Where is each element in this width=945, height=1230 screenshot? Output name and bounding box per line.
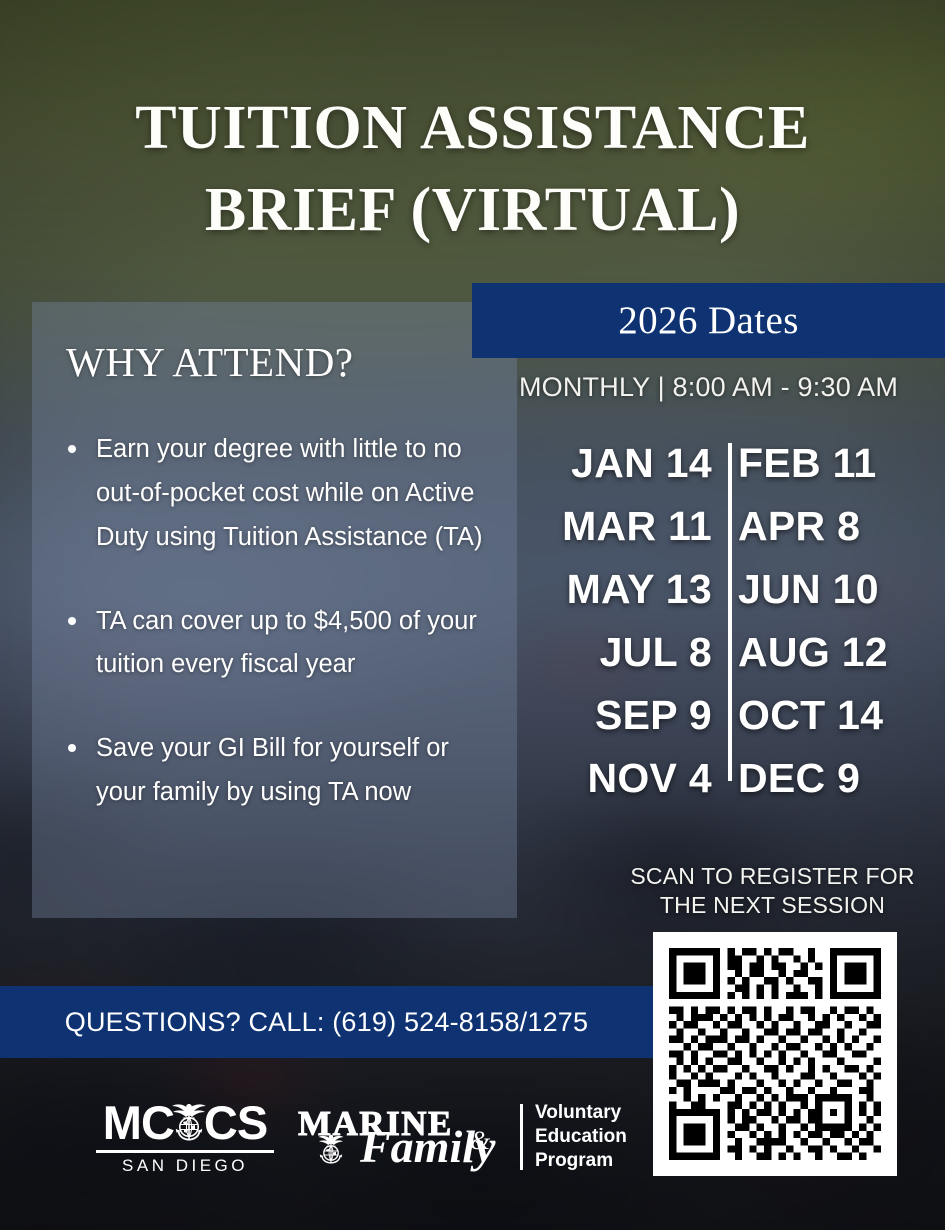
questions-phone-label: QUESTIONS? CALL: (619) 524-8158/1275 bbox=[65, 1007, 588, 1038]
table-row: MAY 13 JUN 10 bbox=[540, 566, 945, 629]
marine-family-logo: MARINE & Family bbox=[298, 1098, 627, 1176]
mccs-wordmark: MC bbox=[96, 1098, 274, 1146]
marine-family-wordmark: MARINE & Family bbox=[298, 1098, 520, 1176]
poster-root: TUITION ASSISTANCE BRIEF (VIRTUAL) WHY A… bbox=[0, 0, 945, 1230]
why-attend-panel: WHY ATTEND? Earn your degree with little… bbox=[32, 302, 517, 918]
table-row: MAR 11 APR 8 bbox=[540, 503, 945, 566]
mccs-divider-rule bbox=[96, 1150, 274, 1153]
scan-instruction-line-1: SCAN TO REGISTER FOR bbox=[600, 862, 945, 891]
page-title-line-1: TUITION ASSISTANCE bbox=[60, 88, 885, 170]
list-item: Save your GI Bill for yourself or your f… bbox=[66, 727, 487, 815]
scan-instruction: SCAN TO REGISTER FOR THE NEXT SESSION bbox=[600, 862, 945, 921]
date-cell: FEB 11 bbox=[716, 440, 945, 487]
date-cell: JUL 8 bbox=[540, 629, 716, 676]
family-word: Family bbox=[360, 1124, 495, 1170]
program-label: Voluntary Education Program bbox=[535, 1101, 627, 1173]
eagle-globe-anchor-icon bbox=[169, 1100, 209, 1144]
scan-instruction-line-2: THE NEXT SESSION bbox=[600, 891, 945, 920]
footer-logos: MC bbox=[0, 1082, 653, 1192]
table-row: SEP 9 OCT 14 bbox=[540, 692, 945, 755]
program-label-line-1: Voluntary bbox=[535, 1101, 627, 1125]
schedule-line: MONTHLY | 8:00 AM - 9:30 AM bbox=[472, 372, 945, 403]
why-attend-heading: WHY ATTEND? bbox=[66, 338, 487, 386]
date-grid-divider bbox=[728, 443, 732, 781]
date-cell: DEC 9 bbox=[716, 755, 945, 802]
page-title: TUITION ASSISTANCE BRIEF (VIRTUAL) bbox=[0, 88, 945, 252]
program-label-line-2: Education bbox=[535, 1125, 627, 1149]
date-grid: JAN 14 FEB 11 MAR 11 APR 8 MAY 13 JUN 10… bbox=[540, 440, 945, 818]
date-cell: JAN 14 bbox=[540, 440, 716, 487]
date-cell: SEP 9 bbox=[540, 692, 716, 739]
eagle-globe-anchor-icon bbox=[314, 1132, 348, 1166]
dates-header-bar: 2026 Dates bbox=[472, 283, 945, 358]
why-attend-bullet-list: Earn your degree with little to no out-o… bbox=[66, 428, 487, 815]
mccs-location-label: SAN DIEGO bbox=[96, 1156, 274, 1176]
date-cell: AUG 12 bbox=[716, 629, 945, 676]
table-row: NOV 4 DEC 9 bbox=[540, 755, 945, 818]
list-item: TA can cover up to $4,500 of your tuitio… bbox=[66, 600, 487, 688]
mccs-word-left: MC bbox=[103, 1099, 174, 1146]
dates-header-label: 2026 Dates bbox=[618, 298, 799, 343]
date-cell: JUN 10 bbox=[716, 566, 945, 613]
date-cell: OCT 14 bbox=[716, 692, 945, 739]
mccs-word-right: CS bbox=[204, 1099, 267, 1146]
date-cell: NOV 4 bbox=[540, 755, 716, 802]
table-row: JAN 14 FEB 11 bbox=[540, 440, 945, 503]
marine-family-divider bbox=[520, 1104, 523, 1170]
qr-code-icon[interactable] bbox=[653, 932, 897, 1176]
page-title-line-2: BRIEF (VIRTUAL) bbox=[60, 170, 885, 252]
program-label-line-3: Program bbox=[535, 1149, 627, 1173]
date-cell: MAR 11 bbox=[540, 503, 716, 550]
date-cell: MAY 13 bbox=[540, 566, 716, 613]
mccs-logo: MC bbox=[96, 1098, 274, 1176]
date-cell: APR 8 bbox=[716, 503, 945, 550]
questions-bar: QUESTIONS? CALL: (619) 524-8158/1275 bbox=[0, 986, 653, 1058]
table-row: JUL 8 AUG 12 bbox=[540, 629, 945, 692]
list-item: Earn your degree with little to no out-o… bbox=[66, 428, 487, 560]
